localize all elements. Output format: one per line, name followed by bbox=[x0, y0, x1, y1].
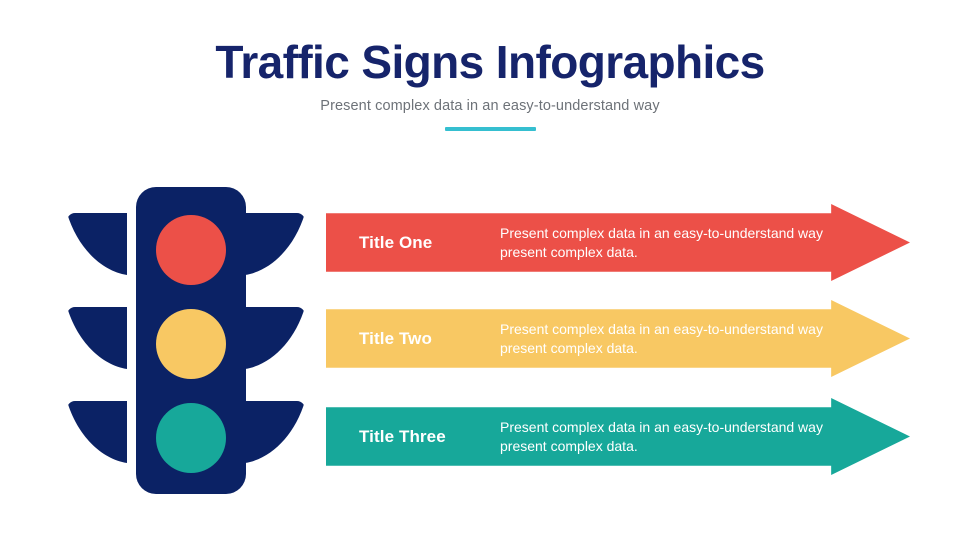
traffic-light-visor-left-red bbox=[67, 213, 127, 275]
row-one-description: Present complex data in an easy-to-under… bbox=[500, 224, 845, 261]
red-lamp-icon bbox=[156, 215, 226, 285]
traffic-light-housing bbox=[136, 187, 246, 494]
content-row-three[interactable]: Title Three Present complex data in an e… bbox=[326, 398, 910, 475]
traffic-light-illustration bbox=[58, 185, 314, 497]
slide-header: Traffic Signs Infographics Present compl… bbox=[0, 38, 980, 131]
title-accent-divider bbox=[445, 127, 536, 131]
row-two-title: Title Two bbox=[359, 329, 509, 349]
content-rows: Title One Present complex data in an eas… bbox=[326, 204, 914, 474]
row-one-title: Title One bbox=[359, 233, 509, 253]
traffic-light-visor-left-green bbox=[67, 401, 127, 463]
page-title: Traffic Signs Infographics bbox=[0, 38, 980, 86]
infographic-slide: Traffic Signs Infographics Present compl… bbox=[0, 0, 980, 551]
traffic-light-visor-left-yellow bbox=[67, 307, 127, 369]
yellow-lamp-icon bbox=[156, 309, 226, 379]
row-two-description: Present complex data in an easy-to-under… bbox=[500, 320, 845, 357]
content-row-two[interactable]: Title Two Present complex data in an eas… bbox=[326, 300, 910, 377]
traffic-light-visor-right-red bbox=[245, 213, 305, 275]
green-lamp-icon bbox=[156, 403, 226, 473]
row-three-description: Present complex data in an easy-to-under… bbox=[500, 418, 845, 455]
page-subtitle: Present complex data in an easy-to-under… bbox=[0, 98, 980, 114]
traffic-light-visor-right-green bbox=[245, 401, 305, 463]
row-three-title: Title Three bbox=[359, 427, 509, 447]
content-row-one[interactable]: Title One Present complex data in an eas… bbox=[326, 204, 910, 281]
traffic-light-visor-right-yellow bbox=[245, 307, 305, 369]
